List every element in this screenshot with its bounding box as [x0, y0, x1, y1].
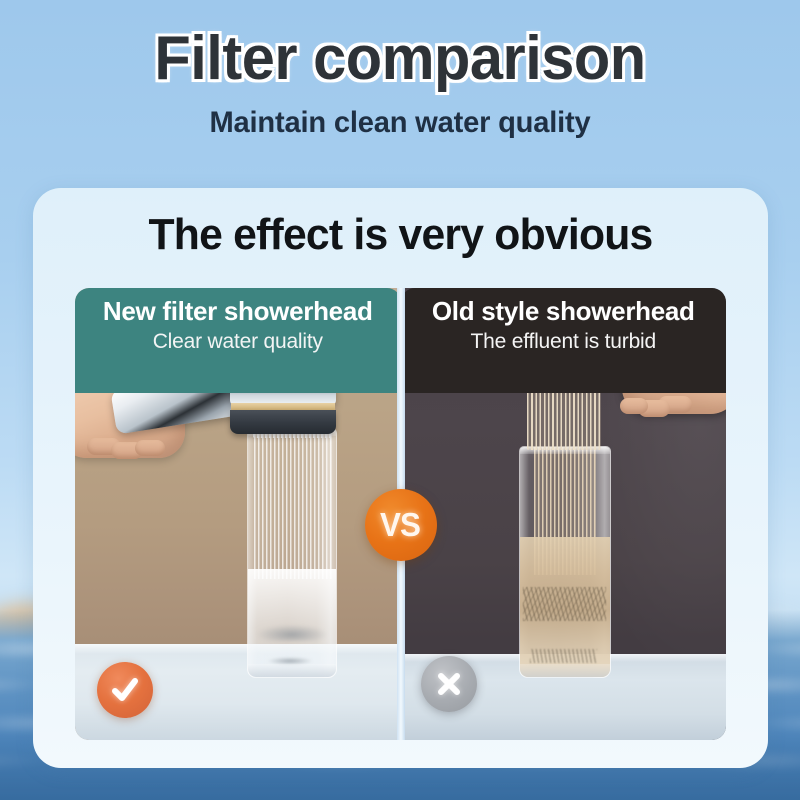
comparison-side-new-filter[interactable]: New filter showerhead Clear water qualit… — [75, 288, 401, 740]
showerhead-nozzle-plate — [230, 410, 336, 434]
card-title: The effect is very obvious — [44, 210, 757, 260]
comparison-side-old-style[interactable]: Old style showerhead The effluent is tur… — [401, 288, 727, 740]
finger — [135, 440, 165, 456]
cross-icon — [421, 656, 477, 712]
header-block: Filter comparison Maintain clean water q… — [0, 0, 800, 140]
banner-title: Old style showerhead — [401, 297, 727, 325]
banner-subtitle: Clear water quality — [75, 330, 401, 354]
comparison-area: New filter showerhead Clear water qualit… — [75, 288, 726, 740]
label-banner-old-style: Old style showerhead The effluent is tur… — [401, 288, 727, 393]
page-title: Filter comparison — [16, 26, 784, 92]
vs-badge: VS — [365, 489, 437, 561]
product-comparison-page: Filter comparison Maintain clean water q… — [0, 0, 800, 800]
comparison-card: The effect is very obvious — [33, 188, 768, 768]
banner-title: New filter showerhead — [75, 297, 401, 325]
page-subtitle: Maintain clean water quality — [12, 106, 788, 140]
banner-subtitle: The effluent is turbid — [401, 330, 727, 354]
check-icon — [97, 662, 153, 718]
vs-label: VS — [381, 506, 421, 544]
finger — [620, 398, 648, 414]
label-banner-new-filter: New filter showerhead Clear water qualit… — [75, 288, 401, 393]
